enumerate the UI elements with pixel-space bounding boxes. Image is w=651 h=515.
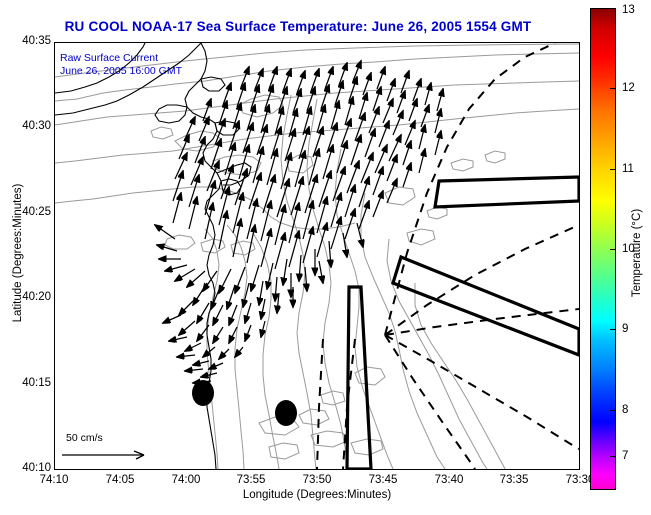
colorbar-tick-7: [610, 456, 616, 457]
colorbar-title: Temperature (°C): [631, 163, 643, 343]
x-axis-label: Longitude (Degrees:Minutes): [54, 489, 580, 501]
x-tick-6: 73:40: [435, 474, 464, 486]
x-tick-1: 74:05: [106, 474, 135, 486]
x-axis-ticks: 74:10 74:05 74:00 73:55 73:50 73:45 73:4…: [0, 0, 651, 515]
colorbar[interactable]: 13 12 11 10 9 8 7: [590, 8, 616, 490]
colorbar-label-7: 7: [622, 450, 628, 462]
figure-canvas: RU COOL NOAA-17 Sea Surface Temperature:…: [0, 0, 651, 515]
x-tick-7: 73:35: [500, 474, 529, 486]
x-tick-4: 73:50: [303, 474, 332, 486]
colorbar-tick-10: [610, 249, 616, 250]
y-axis-label: Latitude (Degrees:Minutes): [12, 138, 24, 368]
colorbar-label-8: 8: [622, 404, 628, 416]
colorbar-tick-13: [610, 8, 616, 9]
colorbar-tick-11: [610, 169, 616, 170]
colorbar-tick-8: [610, 410, 616, 411]
colorbar-tick-12: [610, 88, 616, 89]
x-tick-5: 73:45: [369, 474, 398, 486]
colorbar-label-9: 9: [622, 323, 628, 335]
colorbar-label-12: 12: [622, 82, 635, 94]
x-tick-2: 74:00: [172, 474, 201, 486]
x-tick-0: 74:10: [40, 474, 69, 486]
colorbar-label-13: 13: [622, 4, 635, 16]
colorbar-tick-9: [610, 329, 616, 330]
x-tick-3: 73:55: [237, 474, 266, 486]
